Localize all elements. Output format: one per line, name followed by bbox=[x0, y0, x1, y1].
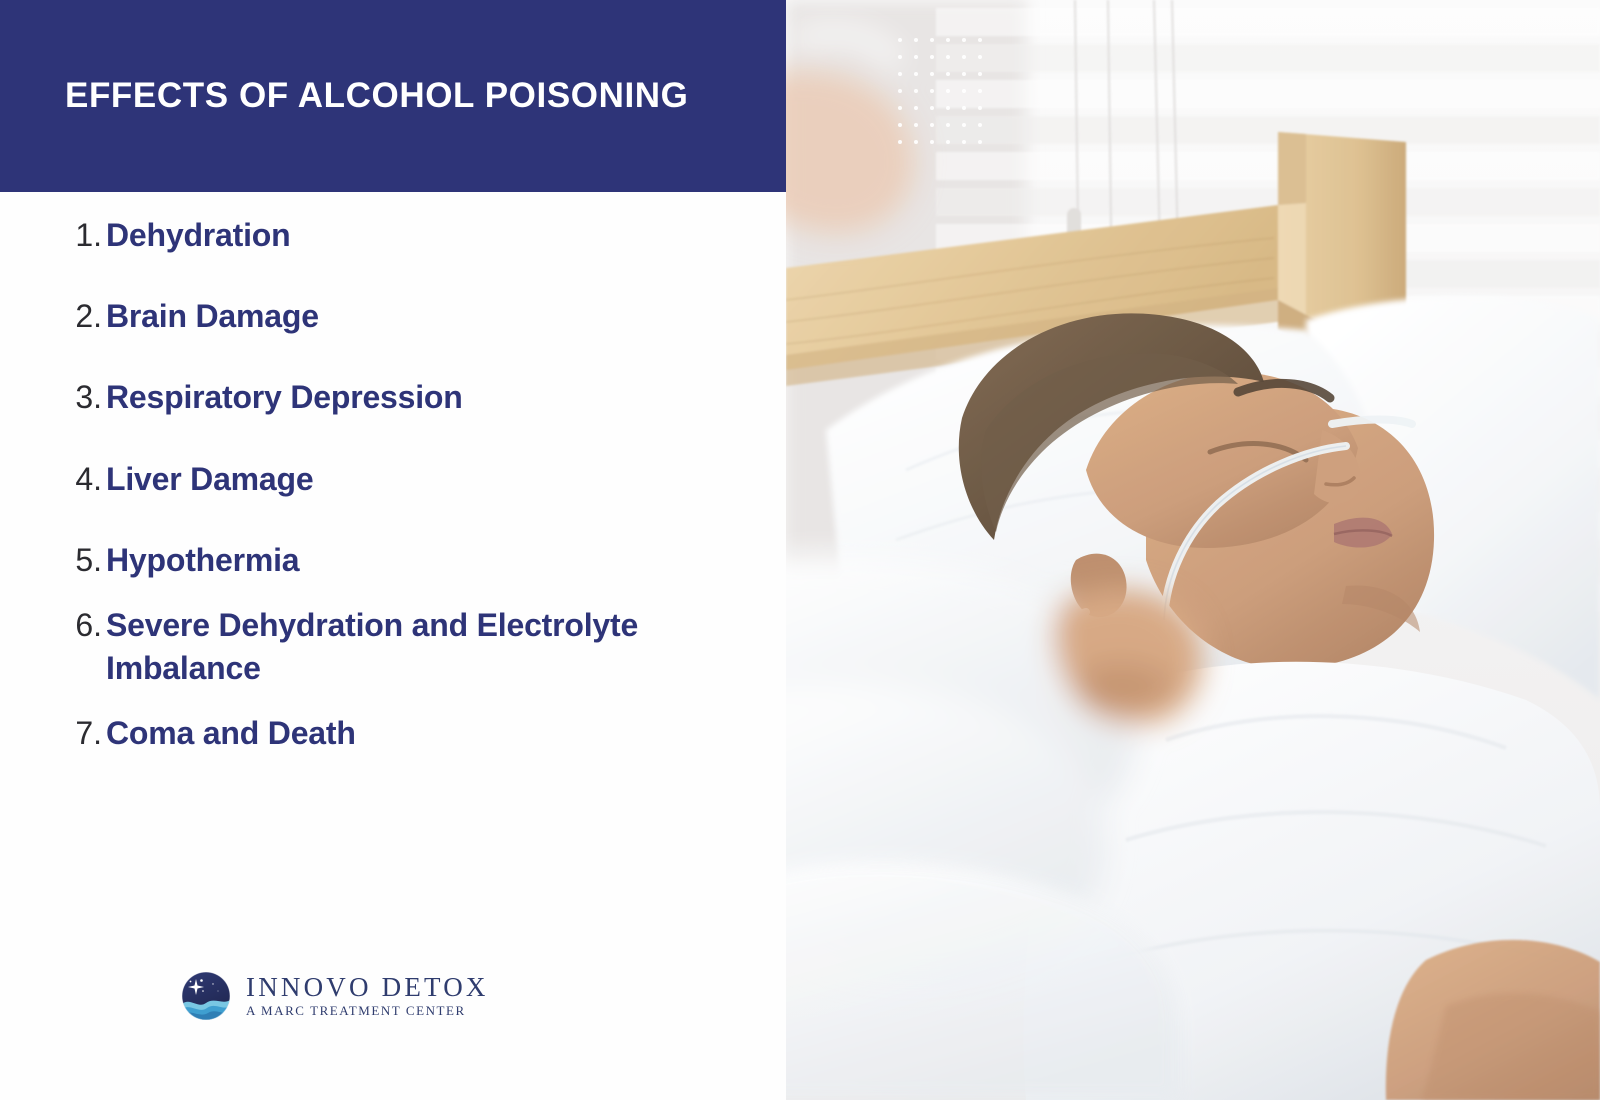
effects-list: 1. Dehydration 2. Brain Damage 3. Respir… bbox=[0, 214, 786, 778]
list-item: 3. Respiratory Depression bbox=[0, 376, 786, 419]
list-item: 7. Coma and Death bbox=[0, 712, 786, 755]
list-item: 6. Severe Dehydration and Electrolyte Im… bbox=[0, 604, 786, 690]
list-item: 4. Liver Damage bbox=[0, 458, 786, 501]
list-item-label: Dehydration bbox=[106, 214, 291, 257]
left-content-panel: EFFECTS OF ALCOHOL POISONING 1. Dehydrat… bbox=[0, 0, 786, 1100]
list-item-number: 4. bbox=[68, 458, 102, 501]
poster-root: EFFECTS OF ALCOHOL POISONING 1. Dehydrat… bbox=[0, 0, 1600, 1100]
list-item-number: 2. bbox=[68, 295, 102, 338]
innovo-detox-logo-icon bbox=[180, 970, 232, 1022]
list-item: 2. Brain Damage bbox=[0, 295, 786, 338]
hospital-patient-photo bbox=[786, 0, 1600, 1100]
list-item-label: Hypothermia bbox=[106, 539, 299, 582]
list-item-number: 6. bbox=[68, 604, 102, 647]
list-item-label: Severe Dehydration and Electrolyte Imbal… bbox=[106, 604, 766, 690]
brand-tagline: A MARC TREATMENT CENTER bbox=[246, 1003, 489, 1019]
list-item-number: 7. bbox=[68, 712, 102, 755]
list-item-label: Brain Damage bbox=[106, 295, 319, 338]
brand-logo-text: INNOVO DETOX A MARC TREATMENT CENTER bbox=[246, 973, 489, 1019]
list-item: 5. Hypothermia bbox=[0, 539, 786, 582]
list-item-label: Liver Damage bbox=[106, 458, 313, 501]
brand-name: INNOVO DETOX bbox=[246, 973, 489, 1001]
list-item: 1. Dehydration bbox=[0, 214, 786, 257]
page-title: EFFECTS OF ALCOHOL POISONING bbox=[0, 77, 689, 116]
list-item-number: 1. bbox=[68, 214, 102, 257]
list-item-number: 5. bbox=[68, 539, 102, 582]
header-bar: EFFECTS OF ALCOHOL POISONING bbox=[0, 0, 786, 192]
brand-logo: INNOVO DETOX A MARC TREATMENT CENTER bbox=[180, 970, 489, 1022]
list-item-number: 3. bbox=[68, 376, 102, 419]
list-item-label: Coma and Death bbox=[106, 712, 356, 755]
list-item-label: Respiratory Depression bbox=[106, 376, 463, 419]
